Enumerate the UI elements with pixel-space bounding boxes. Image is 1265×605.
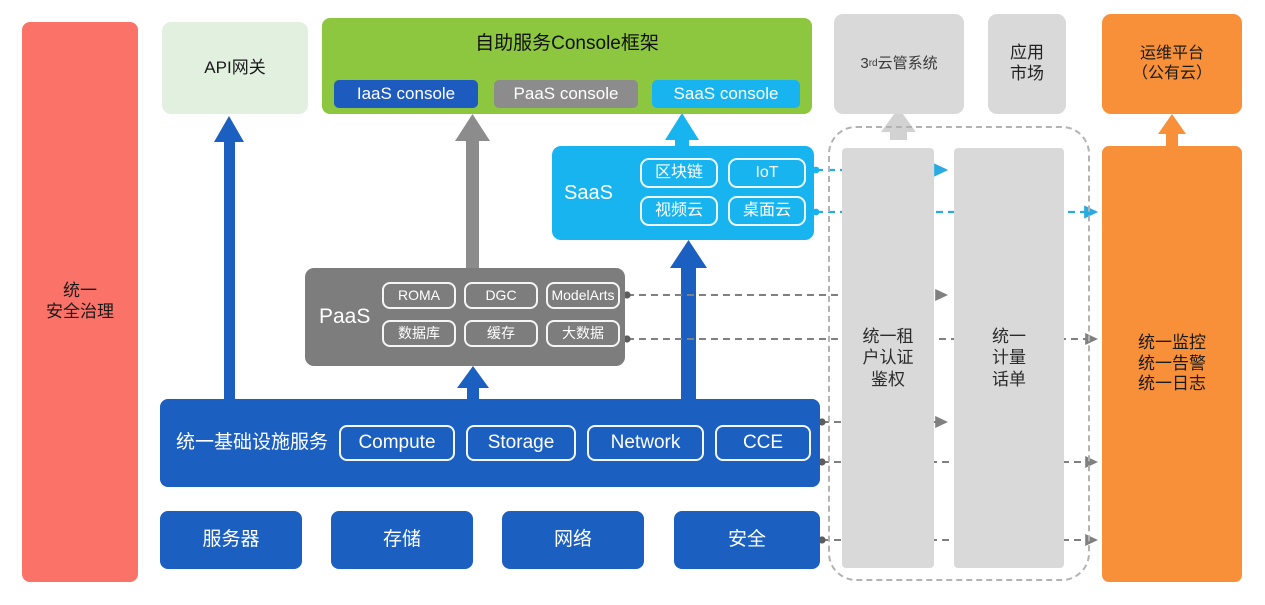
saas-console-chip[interactable]: SaaS console [652,80,800,108]
infra-item-storage[interactable]: Storage [466,425,576,461]
paas-console-chip[interactable]: PaaS console [494,80,638,108]
third-party-cloud-mgmt-system[interactable]: 3rd云管系统 [834,14,964,114]
arrow-infra-to-saas [670,240,707,401]
iaas-console-chip[interactable]: IaaS console [334,80,478,108]
paas-item-cache[interactable]: 缓存 [464,320,538,347]
console-title: 自助服务Console框架 [322,32,812,55]
arrow-saas-to-console [665,113,699,150]
unified-infrastructure-service[interactable]: 统一基础设施服务 Compute Storage Network CCE [160,399,820,487]
third-party-superscript: rd [869,58,878,70]
shared-service-metering[interactable]: 统一 计量 话单 [954,148,1064,568]
paas-item-database[interactable]: 数据库 [382,320,456,347]
ops-platform-public-cloud[interactable]: 运维平台 （公有云） [1102,14,1242,114]
saas-item-iot[interactable]: IoT [728,158,806,188]
paas-item-modelarts[interactable]: ModelArts [546,282,620,309]
paas-item-bigdata[interactable]: 大数据 [546,320,620,347]
hardware-storage[interactable]: 存储 [331,511,473,569]
saas-item-video-cloud[interactable]: 视频云 [640,196,718,226]
infra-item-cce[interactable]: CCE [715,425,811,461]
hardware-network[interactable]: 网络 [502,511,644,569]
arrow-infra-to-paas [457,366,489,401]
hardware-security[interactable]: 安全 [674,511,820,569]
third-party-prefix: 3 [860,55,868,73]
saas-layer[interactable]: SaaS 区块链 IoT 视频云 桌面云 [552,146,814,240]
arrow-infra-to-apigateway [214,116,244,399]
infrastructure-label: 统一基础设施服务 [176,399,328,487]
hardware-server[interactable]: 服务器 [160,511,302,569]
paas-layer-label: PaaS [319,268,370,366]
app-market[interactable]: 应用 市场 [988,14,1066,114]
infra-item-compute[interactable]: Compute [339,425,455,461]
paas-item-roma[interactable]: ROMA [382,282,456,309]
self-service-console-framework[interactable]: 自助服务Console框架 IaaS console PaaS console … [322,18,812,114]
unified-security-governance[interactable]: 统一 安全治理 [22,22,138,582]
third-party-label: 云管系统 [878,55,938,73]
shared-service-auth[interactable]: 统一租 户认证 鉴权 [842,148,934,568]
saas-item-blockchain[interactable]: 区块链 [640,158,718,188]
arrow-opsplatform-link [1158,114,1186,146]
paas-item-dgc[interactable]: DGC [464,282,538,309]
saas-item-desktop-cloud[interactable]: 桌面云 [728,196,806,226]
ops-monitoring-panel[interactable]: 统一监控 统一告警 统一日志 [1102,146,1242,582]
architecture-diagram: 统一租 户认证 鉴权 统一 计量 话单 统一 安全治理 API网关 自助服务Co… [0,0,1265,605]
api-gateway[interactable]: API网关 [162,22,308,114]
saas-layer-label: SaaS [564,146,613,240]
paas-layer[interactable]: PaaS ROMA DGC ModelArts 数据库 缓存 大数据 [305,268,625,366]
arrow-paas-to-console [455,114,490,268]
infra-item-network[interactable]: Network [587,425,704,461]
